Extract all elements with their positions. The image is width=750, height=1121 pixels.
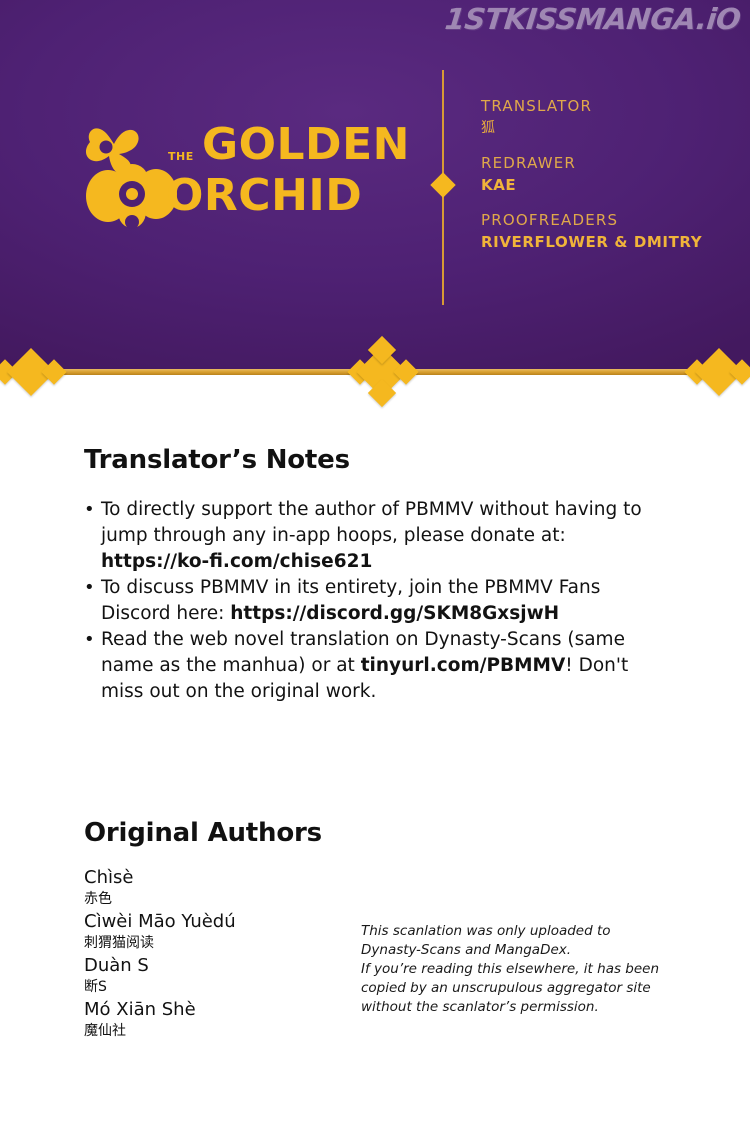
credits-banner: 1STKISSMANGA.iO THE GO: [0, 0, 750, 372]
site-watermark: 1STKISSMANGA.iO: [443, 2, 742, 36]
note-link-text[interactable]: https://ko-fi.com/chise621: [101, 551, 372, 572]
note-item-text: Read the web novel translation on Dynast…: [101, 629, 628, 702]
note-link-text[interactable]: tinyurl.com/PBMMV: [361, 655, 566, 676]
aggregator-disclaimer: This scanlation was only uploaded to Dyn…: [361, 922, 671, 1017]
rule-diamond-icon: [430, 172, 455, 197]
notes-title: Translator’s Notes: [84, 445, 664, 475]
logo-word-orchid: ORCHID: [166, 170, 416, 222]
author-native-name: 断S: [84, 977, 364, 998]
scanlation-credits-page: 1STKISSMANGA.iO THE GO: [0, 0, 750, 1121]
golden-orchid-logo: THE GOLDEN ORCHID: [84, 120, 414, 235]
note-plain-text: To directly support the author of PBMMV …: [101, 499, 642, 546]
translator-notes-section: Translator’s Notes To directly support t…: [84, 445, 664, 705]
author-romanized-name: Cìwèi Māo Yuèdú: [84, 910, 364, 933]
credit-role-label: REDRAWER: [481, 153, 721, 174]
author-romanized-name: Chìsè: [84, 866, 364, 889]
note-item: Read the web novel translation on Dynast…: [84, 627, 664, 705]
credit-role-label: TRANSLATOR: [481, 96, 721, 117]
diamond-divider: [0, 352, 750, 396]
authors-name-column: Chìsè 赤色 Cìwèi Māo Yuèdú 刺猬猫阅读 Duàn S 断S…: [84, 866, 364, 1042]
note-item: To directly support the author of PBMMV …: [84, 497, 664, 575]
logo-word-golden: GOLDEN: [202, 119, 410, 170]
credit-group-redrawer: REDRAWER KAE: [481, 153, 721, 196]
note-item-text: To discuss PBMMV in its entirety, join t…: [101, 577, 600, 624]
disclaimer-line: without the scanlator’s permission.: [361, 998, 671, 1017]
author-native-name: 魔仙社: [84, 1021, 364, 1042]
note-link-text[interactable]: https://discord.gg/SKM8GxsjwH: [230, 603, 559, 624]
disclaimer-line: If you’re reading this elsewhere, it has…: [361, 960, 671, 979]
credits-list: TRANSLATOR 狐 REDRAWER KAE PROOFREADERS R…: [481, 96, 721, 267]
authors-title: Original Authors: [84, 818, 674, 848]
disclaimer-line: copied by an unscrupulous aggregator sit…: [361, 979, 671, 998]
credit-name-value: KAE: [481, 174, 721, 196]
author-native-name: 刺猬猫阅读: [84, 933, 364, 954]
disclaimer-line: Dynasty-Scans and MangaDex.: [361, 941, 671, 960]
note-item-text: To directly support the author of PBMMV …: [101, 499, 642, 572]
credit-name-value: 狐: [481, 117, 721, 139]
credit-role-label: PROOFREADERS: [481, 210, 721, 231]
author-romanized-name: Mó Xiān Shè: [84, 998, 364, 1021]
author-native-name: 赤色: [84, 889, 364, 910]
credit-name-value: RIVERFLOWER & DMITRY: [481, 231, 721, 253]
note-item: To discuss PBMMV in its entirety, join t…: [84, 575, 664, 627]
credit-group-proofreaders: PROOFREADERS RIVERFLOWER & DMITRY: [481, 210, 721, 253]
author-romanized-name: Duàn S: [84, 954, 364, 977]
notes-bullet-list: To directly support the author of PBMMV …: [84, 497, 664, 705]
disclaimer-line: This scanlation was only uploaded to: [361, 922, 671, 941]
credit-group-translator: TRANSLATOR 狐: [481, 96, 721, 139]
original-authors-section: Original Authors Chìsè 赤色 Cìwèi Māo Yuèd…: [84, 818, 674, 866]
